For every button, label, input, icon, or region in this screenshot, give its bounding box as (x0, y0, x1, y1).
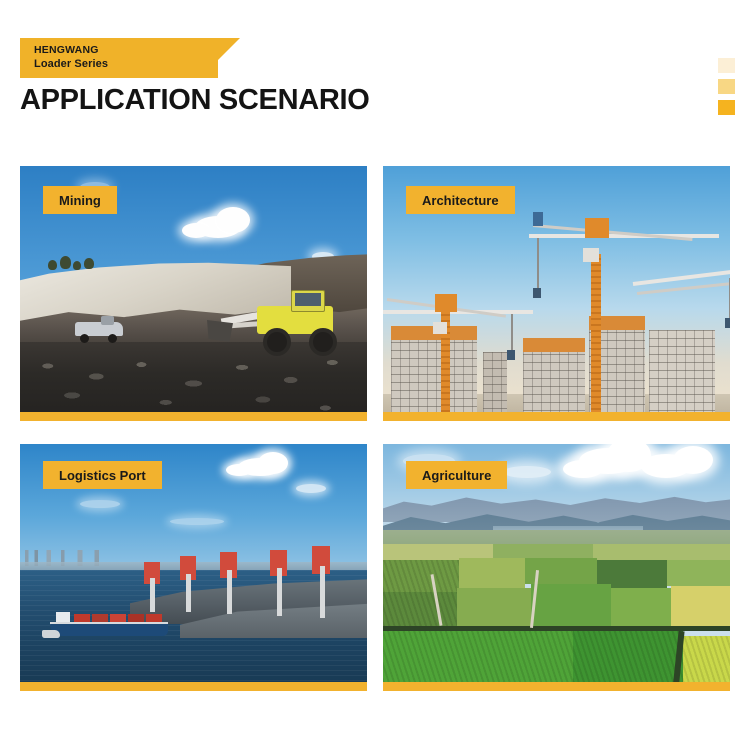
crane-hook (725, 318, 730, 328)
card-label-architecture[interactable]: Architecture (406, 186, 515, 214)
tree-icon (73, 261, 81, 270)
field-plot (457, 588, 531, 626)
deco-square-medium-icon (718, 79, 735, 94)
tugboat-icon (42, 630, 60, 638)
field-plot (493, 544, 593, 558)
card-bottom-bar (20, 682, 367, 691)
crane-mast (591, 254, 601, 412)
scenario-card-architecture[interactable]: Architecture (383, 166, 730, 421)
cloud-icon (503, 466, 551, 478)
loader-cab-glass (295, 293, 321, 306)
container-ship-icon (50, 612, 170, 636)
page-title: APPLICATION SCENARIO (20, 84, 370, 117)
cloud-icon (563, 460, 603, 478)
brand-banner: HENGWANG Loader Series (20, 38, 218, 78)
ship-hull (50, 624, 168, 636)
cloud-icon (182, 223, 210, 238)
cloud-icon (170, 518, 224, 525)
deco-square-light-icon (718, 58, 735, 73)
field-plot (383, 592, 457, 626)
card-bottom-bar (383, 682, 730, 691)
farm-fields (383, 544, 730, 682)
card-label-logistics-port[interactable]: Logistics Port (43, 461, 162, 489)
truck-wheel (108, 334, 117, 343)
loader-wheel (263, 328, 291, 356)
field-plot (593, 544, 730, 560)
gantry-crane-leg (320, 566, 325, 618)
deco-square-solid-icon (718, 100, 735, 115)
application-scenario-page: HENGWANG Loader Series APPLICATION SCENA… (0, 0, 750, 750)
field-plot (573, 631, 683, 682)
card-label-agriculture[interactable]: Agriculture (406, 461, 507, 489)
field-plot (683, 636, 730, 682)
loader-bucket (207, 320, 233, 342)
crane-cable (537, 238, 539, 290)
crane-machinery-deck (433, 322, 447, 334)
scenario-card-agriculture[interactable]: Agriculture (383, 444, 730, 691)
truck-cab (101, 316, 114, 325)
card-bottom-bar (20, 412, 367, 421)
haul-truck-icon (75, 316, 131, 344)
loader-wheel (309, 328, 337, 356)
tree-icon (48, 260, 57, 270)
card-label-mining[interactable]: Mining (43, 186, 117, 214)
crane-tie-bar (637, 282, 730, 295)
cloud-icon (296, 484, 326, 493)
field-plot (611, 588, 671, 626)
cloud-icon (80, 500, 120, 508)
card-bottom-bar (383, 412, 730, 421)
gantry-crane-leg (186, 574, 191, 612)
field-plot (671, 586, 730, 626)
field-plot (383, 560, 459, 592)
scenario-card-logistics-port[interactable]: Logistics Port (20, 444, 367, 691)
tree-icon (60, 256, 71, 269)
crane-tie-bar (533, 224, 693, 241)
brand-series: Loader Series (34, 57, 218, 72)
cloud-icon (226, 464, 252, 476)
gantry-crane-leg (227, 570, 232, 614)
field-plot (531, 584, 611, 626)
field-plot (383, 631, 573, 682)
rubble-texture (20, 352, 367, 412)
crane-hook (533, 288, 541, 298)
crane-cable (729, 278, 730, 320)
scenario-grid: Mining (20, 166, 730, 691)
crane-apex (585, 218, 609, 238)
cloud-icon (673, 446, 713, 474)
crane-operator-cab (533, 212, 543, 226)
field-plot (459, 558, 525, 588)
decorative-squares (718, 58, 735, 115)
gantry-crane-leg (150, 578, 155, 612)
tower-crane-icon (633, 274, 730, 412)
page-header: HENGWANG Loader Series APPLICATION SCENA… (0, 0, 750, 150)
crane-machinery-deck (583, 248, 599, 262)
truck-wheel (80, 334, 89, 343)
brand-name: HENGWANG (34, 43, 218, 57)
cloud-icon (216, 207, 250, 233)
scenario-card-mining[interactable]: Mining (20, 166, 367, 421)
field-plot (667, 560, 730, 586)
wheel-loader-icon (205, 288, 355, 358)
gantry-crane-leg (277, 568, 282, 616)
cloud-icon (258, 452, 288, 474)
tree-icon (84, 258, 94, 269)
brand-banner-chamfer (218, 38, 240, 60)
